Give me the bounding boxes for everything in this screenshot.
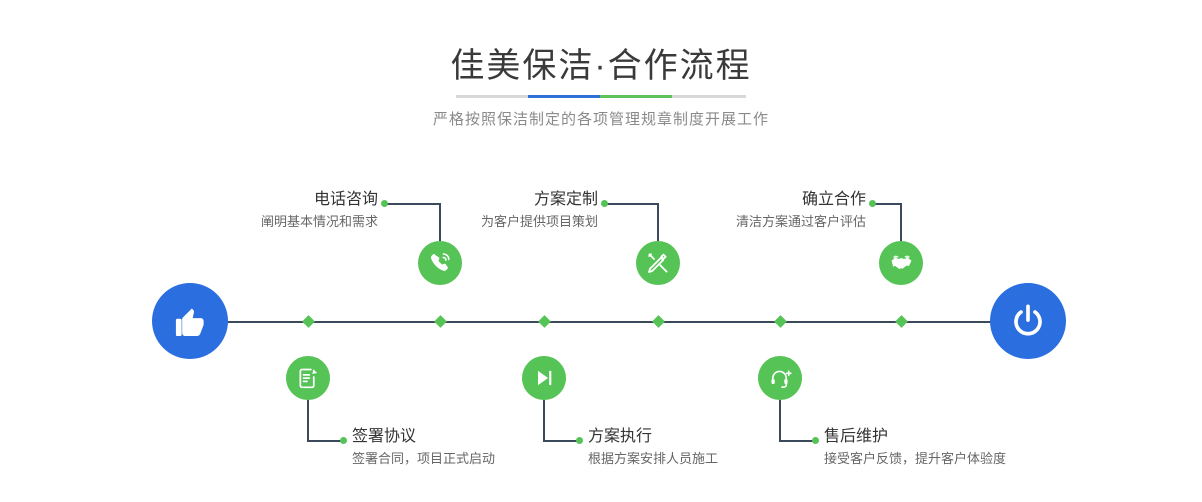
connector-horizontal-3	[605, 203, 658, 205]
thumbs-up-icon	[171, 302, 209, 340]
connector-horizontal-4	[543, 440, 578, 442]
step-icon-1	[418, 241, 462, 285]
axis-marker-step-1	[434, 315, 447, 328]
step-desc-3: 为客户提供项目策划	[460, 212, 598, 232]
step-label-3: 方案定制 为客户提供项目策划	[460, 190, 598, 232]
timeline-end-endpoint	[990, 283, 1066, 359]
document-edit-icon	[297, 367, 320, 390]
page-title: 佳美保洁·合作流程	[0, 38, 1202, 87]
connector-vertical-5	[900, 203, 902, 241]
step-title-1: 电话咨询	[248, 190, 378, 210]
step-label-1: 电话咨询 阐明基本情况和需求	[248, 190, 378, 232]
connector-vertical-6	[779, 400, 781, 440]
divider-green-segment	[600, 95, 672, 98]
connector-vertical-2	[307, 400, 309, 440]
pen-ruler-icon	[646, 251, 670, 275]
handshake-icon	[889, 251, 914, 276]
headset-support-icon	[769, 367, 792, 390]
flow-diagram: 佳美保洁·合作流程 严格按照保洁制定的各项管理规章制度开展工作	[0, 0, 1202, 502]
step-title-3: 方案定制	[460, 190, 598, 210]
step-title-6: 售后维护	[824, 427, 1124, 447]
step-desc-1: 阐明基本情况和需求	[248, 212, 378, 232]
connector-horizontal-5	[873, 203, 901, 205]
step-label-6: 售后维护 接受客户反馈，提升客户体验度	[824, 427, 1124, 469]
connector-dot-5	[869, 200, 876, 207]
title-divider	[456, 95, 746, 98]
axis-marker-step-6	[774, 315, 787, 328]
axis-marker-step-2	[302, 315, 315, 328]
step-desc-2: 签署合同，项目正式启动	[352, 449, 592, 469]
power-icon	[1008, 301, 1048, 341]
connector-vertical-3	[657, 203, 659, 241]
connector-dot-3	[601, 200, 608, 207]
phone-ring-icon	[428, 251, 452, 275]
step-icon-3	[636, 241, 680, 285]
connector-dot-2	[340, 437, 347, 444]
step-desc-4: 根据方案安排人员施工	[588, 449, 838, 469]
step-title-4: 方案执行	[588, 427, 838, 447]
connector-dot-6	[812, 437, 819, 444]
timeline-start-endpoint	[152, 283, 228, 359]
page-subtitle: 严格按照保洁制定的各项管理规章制度开展工作	[0, 108, 1202, 129]
step-label-4: 方案执行 根据方案安排人员施工	[588, 427, 838, 469]
step-icon-5	[879, 241, 923, 285]
connector-vertical-1	[439, 203, 441, 241]
connector-horizontal-6	[779, 440, 814, 442]
connector-dot-4	[576, 437, 583, 444]
axis-marker-step-5	[895, 315, 908, 328]
step-title-2: 签署协议	[352, 427, 592, 447]
step-icon-4	[522, 356, 566, 400]
step-desc-5: 清洁方案通过客户评估	[700, 212, 866, 232]
step-label-2: 签署协议 签署合同，项目正式启动	[352, 427, 592, 469]
step-title-5: 确立合作	[700, 190, 866, 210]
connector-horizontal-1	[385, 203, 440, 205]
axis-marker-step-4	[538, 315, 551, 328]
step-label-5: 确立合作 清洁方案通过客户评估	[700, 190, 866, 232]
connector-horizontal-2	[307, 440, 342, 442]
step-desc-6: 接受客户反馈，提升客户体验度	[824, 449, 1124, 469]
play-skip-icon	[533, 367, 555, 389]
axis-marker-step-3	[652, 315, 665, 328]
step-icon-2	[286, 356, 330, 400]
step-icon-6	[758, 356, 802, 400]
connector-vertical-4	[543, 400, 545, 440]
connector-dot-1	[381, 200, 388, 207]
divider-blue-segment	[528, 95, 600, 98]
